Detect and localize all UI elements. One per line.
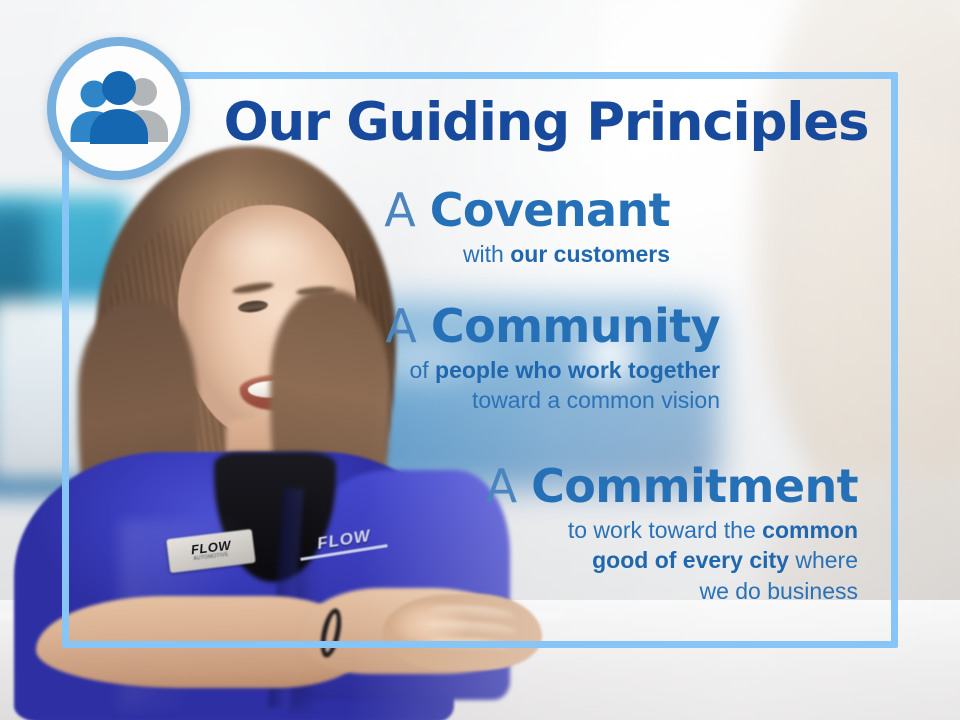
principle-title: A Community (160, 302, 720, 351)
subtext-line: with our customers (463, 241, 670, 267)
principle-article: A (384, 183, 415, 237)
principle-block-community: A Community of people who work together … (160, 302, 720, 416)
poster-root: FLOW AUTOMOTIVE FLOW (0, 0, 960, 720)
principle-block-covenant: A Covenant with our customers (110, 186, 670, 269)
people-group-badge (47, 37, 190, 180)
subtext-line: good of every city where (298, 545, 858, 576)
principle-title: A Commitment (298, 462, 858, 511)
subtext-line: we do business (298, 576, 858, 607)
principle-block-commitment: A Commitment to work toward the common g… (298, 462, 858, 606)
people-group-icon (65, 70, 173, 148)
subtext-line: toward a common vision (160, 385, 720, 416)
principle-title: A Covenant (110, 186, 670, 235)
principle-subtext: with our customers (110, 239, 670, 270)
principle-article: A (385, 299, 416, 353)
principle-article: A (486, 459, 517, 513)
principle-subtext: of people who work together toward a com… (160, 355, 720, 416)
page-title: Our Guiding Principles (216, 96, 876, 150)
subtext-line: to work toward the common (298, 515, 858, 546)
principle-keyword: Commitment (531, 459, 858, 513)
principle-keyword: Community (431, 299, 720, 353)
principle-keyword: Covenant (430, 183, 670, 237)
principle-subtext: to work toward the common good of every … (298, 515, 858, 607)
subtext-line: of people who work together (160, 355, 720, 386)
